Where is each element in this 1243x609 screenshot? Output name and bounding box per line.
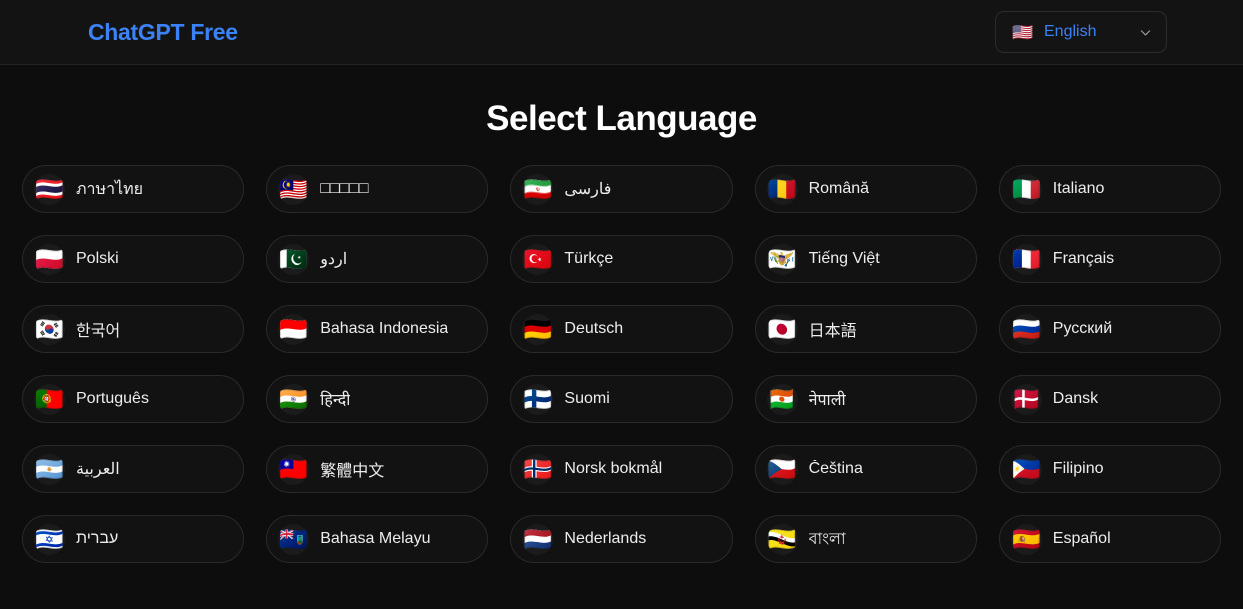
country-flag-icon: 🇵🇰 — [278, 244, 309, 275]
language-option-label: Türkçe — [564, 250, 613, 268]
language-option-button[interactable]: 🇹🇷Türkçe — [510, 235, 732, 283]
language-option-button[interactable]: 🇵🇹Português — [22, 375, 244, 423]
language-option-label: اردو — [320, 249, 347, 269]
language-option-label: Polski — [76, 250, 119, 268]
app-header: ChatGPT Free 🇺🇸 English — [0, 0, 1243, 65]
language-option-button[interactable]: 🇲🇾□□□□□ — [266, 165, 488, 213]
language-option-label: فارسی — [564, 179, 611, 199]
language-option-button[interactable]: 🇩🇰Dansk — [999, 375, 1221, 423]
country-flag-icon: 🇮🇩 — [278, 314, 309, 345]
language-option-button[interactable]: 🇷🇴Română — [755, 165, 977, 213]
language-option-button[interactable]: 🇰🇷한국어 — [22, 305, 244, 353]
country-flag-icon: 🇹🇭 — [34, 174, 65, 205]
language-option-label: Français — [1053, 250, 1114, 268]
language-option-label: Norsk bokmål — [564, 460, 662, 478]
language-option-label: Italiano — [1053, 180, 1105, 198]
language-option-button[interactable]: 🇮🇩Bahasa Indonesia — [266, 305, 488, 353]
country-flag-icon: 🇵🇭 — [1011, 454, 1042, 485]
country-flag-icon: 🇹🇼 — [278, 454, 309, 485]
language-option-label: Español — [1053, 530, 1111, 548]
country-flag-icon: 🇳🇴 — [522, 454, 553, 485]
language-option-label: 日本語 — [809, 317, 857, 341]
country-flag-icon: 🇳🇪 — [767, 384, 798, 415]
chevron-down-icon — [1139, 26, 1152, 39]
country-flag-icon: 🇵🇹 — [34, 384, 65, 415]
country-flag-icon: 🇫🇷 — [1011, 244, 1042, 275]
country-flag-icon: 🇳🇱 — [522, 524, 553, 555]
language-option-label: 한국어 — [76, 317, 120, 341]
brand-logo: ChatGPT Free — [88, 19, 238, 46]
country-flag-icon: 🇮🇹 — [1011, 174, 1042, 205]
language-option-button[interactable]: 🇮🇱עברית — [22, 515, 244, 563]
language-option-label: Dansk — [1053, 390, 1098, 408]
language-option-button[interactable]: 🇨🇿Čeština — [755, 445, 977, 493]
language-option-button[interactable]: 🇮🇹Italiano — [999, 165, 1221, 213]
country-flag-icon: 🇦🇷 — [34, 454, 65, 485]
language-option-button[interactable]: 🇧🇳বাংলা — [755, 515, 977, 563]
language-option-label: Filipino — [1053, 460, 1104, 478]
country-flag-icon: 🇨🇿 — [767, 454, 798, 485]
language-option-label: Suomi — [564, 390, 609, 408]
country-flag-icon: 🇻🇮 — [767, 244, 798, 275]
country-flag-icon: 🇮🇷 — [522, 174, 553, 205]
language-grid: 🇹🇭ภาษาไทย🇲🇾□□□□□🇮🇷فارسی🇷🇴Română🇮🇹Italian… — [0, 165, 1243, 563]
language-option-button[interactable]: 🇻🇮Tiếng Việt — [755, 235, 977, 283]
page-title: Select Language — [0, 99, 1243, 139]
language-option-label: עברית — [76, 530, 118, 548]
language-option-label: नेपाली — [809, 388, 846, 410]
language-option-label: Deutsch — [564, 320, 623, 338]
language-option-button[interactable]: 🇳🇱Nederlands — [510, 515, 732, 563]
language-option-button[interactable]: 🇲🇸Bahasa Melayu — [266, 515, 488, 563]
main-content: Select Language 🇹🇭ภาษาไทย🇲🇾□□□□□🇮🇷فارسی🇷… — [0, 65, 1243, 563]
language-option-button[interactable]: 🇵🇭Filipino — [999, 445, 1221, 493]
language-option-label: Tiếng Việt — [809, 250, 880, 268]
language-option-button[interactable]: 🇳🇪नेपाली — [755, 375, 977, 423]
language-option-button[interactable]: 🇷🇺Русский — [999, 305, 1221, 353]
country-flag-icon: 🇵🇱 — [34, 244, 65, 275]
country-flag-icon: 🇲🇸 — [278, 524, 309, 555]
language-option-button[interactable]: 🇮🇳हिन्दी — [266, 375, 488, 423]
language-option-button[interactable]: 🇵🇱Polski — [22, 235, 244, 283]
language-option-label: Русский — [1053, 320, 1112, 338]
language-selector-label: English — [1044, 23, 1129, 41]
language-option-label: ภาษาไทย — [76, 177, 143, 202]
country-flag-icon: 🇫🇮 — [522, 384, 553, 415]
language-option-label: Română — [809, 180, 869, 198]
language-option-label: Português — [76, 390, 149, 408]
language-option-label: Bahasa Indonesia — [320, 320, 448, 338]
language-option-label: Bahasa Melayu — [320, 530, 430, 548]
country-flag-icon: 🇧🇳 — [767, 524, 798, 555]
language-option-button[interactable]: 🇹🇼繁體中文 — [266, 445, 488, 493]
language-option-button[interactable]: 🇳🇴Norsk bokmål — [510, 445, 732, 493]
language-option-button[interactable]: 🇫🇮Suomi — [510, 375, 732, 423]
language-option-label: Čeština — [809, 460, 863, 478]
language-option-label: العربية — [76, 459, 120, 479]
language-option-label: 繁體中文 — [320, 457, 384, 481]
language-option-label: Nederlands — [564, 530, 646, 548]
country-flag-icon: 🇷🇴 — [767, 174, 798, 205]
language-option-label: বাংলা — [809, 526, 846, 553]
country-flag-icon: 🇮🇱 — [34, 524, 65, 555]
language-option-label: □□□□□ — [320, 180, 368, 198]
country-flag-icon: 🇩🇪 — [522, 314, 553, 345]
language-option-button[interactable]: 🇫🇷Français — [999, 235, 1221, 283]
country-flag-icon: 🇩🇰 — [1011, 384, 1042, 415]
us-flag-icon: 🇺🇸 — [1012, 24, 1034, 41]
country-flag-icon: 🇪🇸 — [1011, 524, 1042, 555]
country-flag-icon: 🇹🇷 — [522, 244, 553, 275]
country-flag-icon: 🇮🇳 — [278, 384, 309, 415]
language-selector-dropdown[interactable]: 🇺🇸 English — [995, 11, 1167, 53]
language-option-button[interactable]: 🇦🇷العربية — [22, 445, 244, 493]
language-option-button[interactable]: 🇯🇵日本語 — [755, 305, 977, 353]
language-option-button[interactable]: 🇪🇸Español — [999, 515, 1221, 563]
language-option-button[interactable]: 🇩🇪Deutsch — [510, 305, 732, 353]
language-option-button[interactable]: 🇹🇭ภาษาไทย — [22, 165, 244, 213]
language-option-label: हिन्दी — [320, 388, 350, 410]
country-flag-icon: 🇰🇷 — [34, 314, 65, 345]
country-flag-icon: 🇯🇵 — [767, 314, 798, 345]
language-option-button[interactable]: 🇵🇰اردو — [266, 235, 488, 283]
country-flag-icon: 🇲🇾 — [278, 174, 309, 205]
country-flag-icon: 🇷🇺 — [1011, 314, 1042, 345]
language-option-button[interactable]: 🇮🇷فارسی — [510, 165, 732, 213]
